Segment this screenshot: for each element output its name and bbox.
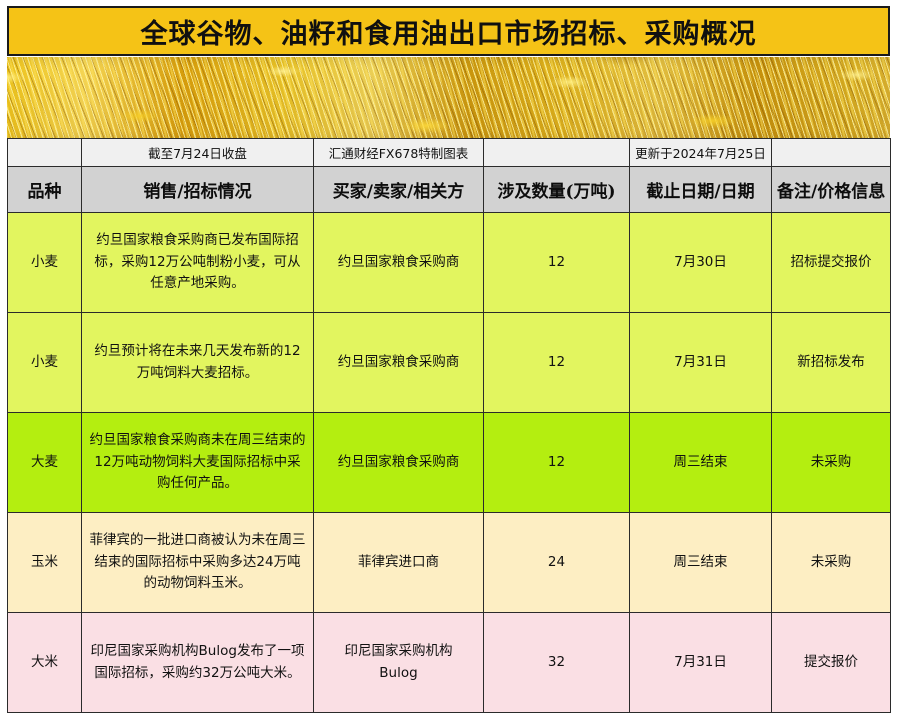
cell-quantity: 12 <box>484 413 630 513</box>
table-row: 小麦 约旦国家粮食采购商已发布国际招标，采购12万公吨制粉小麦，可从任意产地采购… <box>8 213 891 313</box>
cell-description: 约旦国家粮食采购商已发布国际招标，采购12万公吨制粉小麦，可从任意产地采购。 <box>82 213 314 313</box>
cell-deadline: 7月30日 <box>630 213 772 313</box>
cell-quantity: 12 <box>484 213 630 313</box>
table-row: 玉米 菲律宾的一批进口商被认为未在周三结束的国际招标中采购多达24万吨的动物饲料… <box>8 513 891 613</box>
cell-quantity: 24 <box>484 513 630 613</box>
cell-note: 未采购 <box>772 413 891 513</box>
column-header-note: 备注/价格信息 <box>772 167 891 213</box>
cell-description: 约旦国家粮食采购商未在周三结束的12万吨动物饲料大麦国际招标中采购任何产品。 <box>82 413 314 513</box>
page-title-bar: 全球谷物、油籽和食用油出口市场招标、采购概况 <box>7 6 890 56</box>
cell-quantity: 12 <box>484 313 630 413</box>
cell-party: 约旦国家粮食采购商 <box>314 313 484 413</box>
cell-party: 约旦国家粮食采购商 <box>314 213 484 313</box>
cell-party: 印尼国家采购机构 Bulog <box>314 613 484 713</box>
meta-cell-updated-date: 更新于2024年7月25日 <box>630 139 772 167</box>
wheat-field-banner-image <box>7 57 890 138</box>
meta-cell-source-credit: 汇通财经FX678特制图表 <box>314 139 484 167</box>
cell-quantity: 32 <box>484 613 630 713</box>
cell-deadline: 周三结束 <box>630 413 772 513</box>
cell-variety: 玉米 <box>8 513 82 613</box>
cell-note: 未采购 <box>772 513 891 613</box>
tender-summary-table: 截至7月24日收盘 汇通财经FX678特制图表 更新于2024年7月25日 品种… <box>7 138 891 713</box>
cell-description: 印尼国家采购机构Bulog发布了一项国际招标，采购约32万公吨大米。 <box>82 613 314 713</box>
cell-deadline: 周三结束 <box>630 513 772 613</box>
column-header-description: 销售/招标情况 <box>82 167 314 213</box>
table-row: 大米 印尼国家采购机构Bulog发布了一项国际招标，采购约32万公吨大米。 印尼… <box>8 613 891 713</box>
table-header-row: 品种 销售/招标情况 买家/卖家/相关方 涉及数量(万吨) 截止日期/日期 备注… <box>8 167 891 213</box>
report-page: 全球谷物、油籽和食用油出口市场招标、采购概况 截至7月24日收盘 汇通财经FX6… <box>0 0 897 701</box>
page-title: 全球谷物、油籽和食用油出口市场招标、采购概况 <box>141 12 757 51</box>
cell-variety: 大米 <box>8 613 82 713</box>
cell-party: 约旦国家粮食采购商 <box>314 413 484 513</box>
cell-deadline: 7月31日 <box>630 313 772 413</box>
cell-party: 菲律宾进口商 <box>314 513 484 613</box>
column-header-quantity: 涉及数量(万吨) <box>484 167 630 213</box>
cell-deadline: 7月31日 <box>630 613 772 713</box>
cell-note: 提交报价 <box>772 613 891 713</box>
cell-variety: 大麦 <box>8 413 82 513</box>
wheat-shading-layer <box>7 57 890 138</box>
meta-cell-as-of-date: 截至7月24日收盘 <box>82 139 314 167</box>
cell-description: 约旦预计将在未来几天发布新的12万吨饲料大麦招标。 <box>82 313 314 413</box>
meta-cell-blank-quantity <box>484 139 630 167</box>
column-header-deadline: 截止日期/日期 <box>630 167 772 213</box>
cell-note: 新招标发布 <box>772 313 891 413</box>
table-row: 大麦 约旦国家粮食采购商未在周三结束的12万吨动物饲料大麦国际招标中采购任何产品… <box>8 413 891 513</box>
meta-cell-blank-right <box>772 139 891 167</box>
column-header-party: 买家/卖家/相关方 <box>314 167 484 213</box>
cell-variety: 小麦 <box>8 213 82 313</box>
table-row: 小麦 约旦预计将在未来几天发布新的12万吨饲料大麦招标。 约旦国家粮食采购商 1… <box>8 313 891 413</box>
cell-note: 招标提交报价 <box>772 213 891 313</box>
cell-description: 菲律宾的一批进口商被认为未在周三结束的国际招标中采购多达24万吨的动物饲料玉米。 <box>82 513 314 613</box>
column-header-variety: 品种 <box>8 167 82 213</box>
table-meta-row: 截至7月24日收盘 汇通财经FX678特制图表 更新于2024年7月25日 <box>8 139 891 167</box>
cell-variety: 小麦 <box>8 313 82 413</box>
meta-cell-blank-left <box>8 139 82 167</box>
